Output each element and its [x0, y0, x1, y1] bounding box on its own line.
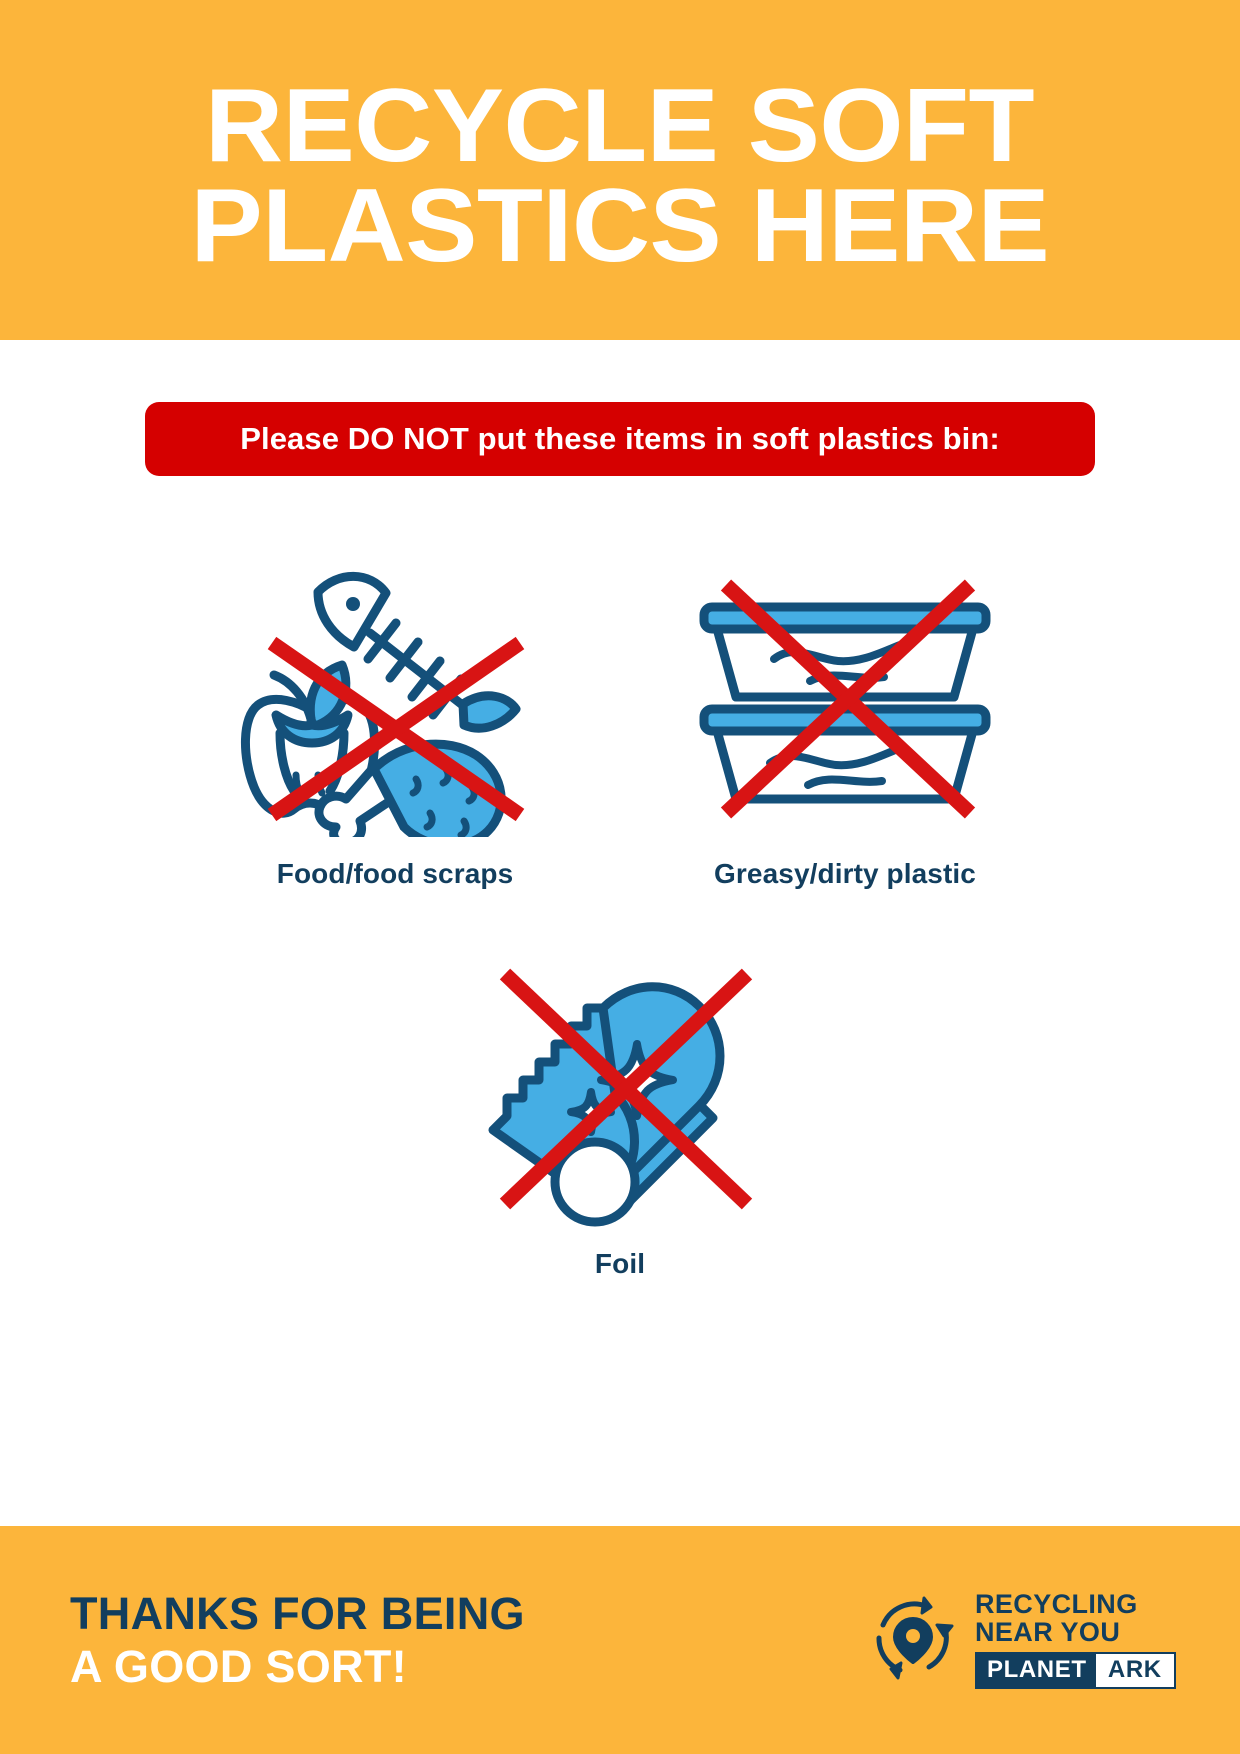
prohibited-item-label: Food/food scraps — [277, 858, 514, 890]
recycling-pin-badge-icon — [867, 1592, 959, 1689]
page-title-line-1: RECYCLE SOFT — [205, 77, 1034, 177]
logo-line-2: NEAR YOU — [975, 1619, 1120, 1647]
footer-slogan: THANKS FOR BEING A GOOD SORT! — [70, 1591, 525, 1689]
planet-ark-wordmark: PLANET ARK — [975, 1652, 1176, 1689]
food-scraps-icon — [215, 542, 575, 842]
logo-line-1: RECYCLING — [975, 1591, 1138, 1619]
planet-ark-planet: PLANET — [977, 1654, 1096, 1687]
page-title-line-2: PLASTICS HERE — [191, 177, 1050, 277]
recycling-near-you-logo: RECYCLING NEAR YOU PLANET ARK — [867, 1591, 1176, 1689]
prohibited-item-label: Greasy/dirty plastic — [714, 858, 976, 890]
prohibited-item-label: Foil — [595, 1248, 645, 1280]
prohibited-item-food-scraps: Food/food scraps — [185, 542, 605, 890]
prohibited-items-row-2: Foil — [0, 932, 1240, 1280]
poster-header: RECYCLE SOFT PLASTICS HERE — [0, 0, 1240, 340]
logo-text: RECYCLING NEAR YOU PLANET ARK — [975, 1591, 1176, 1689]
footer-slogan-line-2: A GOOD SORT! — [70, 1644, 525, 1689]
footer-slogan-line-1: THANKS FOR BEING — [70, 1591, 525, 1636]
prohibited-items-row-1: Food/food scraps — [0, 542, 1240, 890]
prohibited-item-foil: Foil — [410, 932, 830, 1280]
poster-footer: THANKS FOR BEING A GOOD SORT! — [0, 1526, 1240, 1754]
do-not-notice-text: Please DO NOT put these items in soft pl… — [240, 421, 1000, 457]
do-not-notice-banner: Please DO NOT put these items in soft pl… — [145, 402, 1095, 476]
poster: RECYCLE SOFT PLASTICS HERE Please DO NOT… — [0, 0, 1240, 1754]
poster-body: Please DO NOT put these items in soft pl… — [0, 340, 1240, 1526]
foil-roll-icon — [440, 932, 800, 1232]
planet-ark-ark: ARK — [1096, 1654, 1174, 1687]
prohibited-item-greasy-plastic: Greasy/dirty plastic — [635, 542, 1055, 890]
greasy-dirty-plastic-icon — [665, 542, 1025, 842]
